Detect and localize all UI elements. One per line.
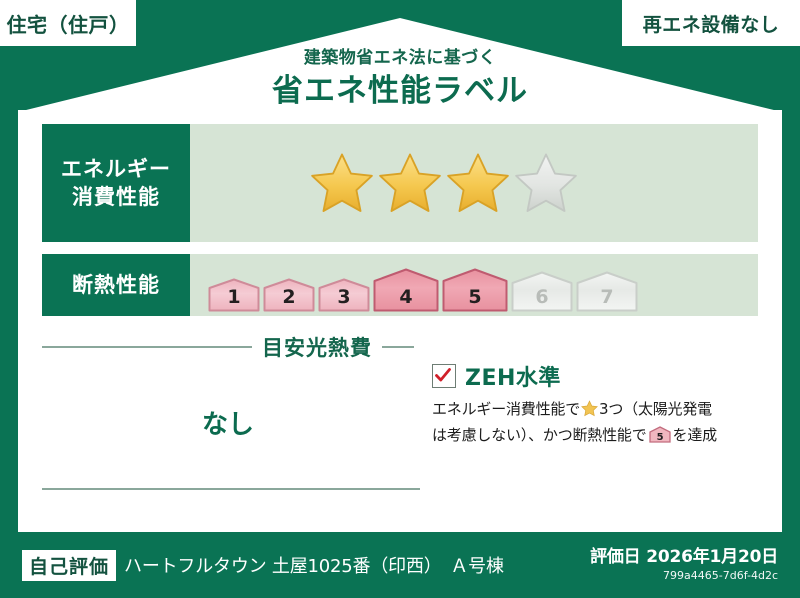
- utility-cost-title: 目安光熱費: [262, 332, 372, 362]
- project-name: ハートフルタウン 土屋1025番（印西） Ａ号棟: [124, 552, 504, 578]
- zeh-checkbox[interactable]: [432, 364, 456, 388]
- utility-cost-bottom-rule: [42, 488, 420, 490]
- zeh-desc-part2: 3つ（太陽光発電: [599, 400, 712, 418]
- insulation-level-number: 3: [318, 286, 370, 308]
- insulation-level-number: 4: [373, 286, 439, 308]
- zeh-block: ZEH水準 エネルギー消費性能で3つ（太陽光発電 は考慮しない）、かつ断熱性能で…: [414, 326, 758, 516]
- insulation-performance-label: 断熱性能: [42, 254, 190, 316]
- energy-performance-value: [190, 124, 758, 242]
- insulation-level-badge: 6: [511, 271, 573, 312]
- energy-performance-label: 住宅（住戸） 再エネ設備なし 建築物省エネ法に基づく 省エネ性能ラベル エネルギ…: [0, 0, 800, 598]
- building-type-label: 住宅（住戸）: [7, 9, 130, 38]
- page-title: 省エネ性能ラベル: [0, 72, 800, 111]
- subtitle: 建築物省エネ法に基づく: [0, 48, 800, 68]
- insulation-level-badge: 4: [373, 268, 439, 312]
- building-type-tag: 住宅（住戸）: [0, 0, 136, 46]
- energy-label-line1: エネルギー: [61, 155, 171, 183]
- star-icon-filled: [310, 151, 374, 215]
- star-icon-filled: [446, 151, 510, 215]
- zeh-desc-line2-part1: は考慮しない）、かつ断熱性能で: [432, 426, 647, 444]
- energy-performance-row: エネルギー 消費性能: [42, 124, 758, 242]
- utility-cost-heading: 目安光熱費: [42, 326, 414, 362]
- evaluation-date: 評価日 2026年1月20日: [590, 548, 778, 567]
- insulation-level-number: 6: [511, 286, 573, 308]
- insulation-label-text: 断熱性能: [72, 271, 160, 299]
- star-icon-empty: [514, 151, 578, 215]
- insulation-level-badge: 5: [442, 268, 508, 312]
- insulation-performance-row: 断熱性能 1234567: [42, 254, 758, 316]
- insulation-level-badge: 2: [263, 278, 315, 312]
- svg-text:5: 5: [656, 432, 663, 443]
- star-icon-filled: [378, 151, 442, 215]
- energy-label-line2: 消費性能: [72, 183, 160, 211]
- inline-insulation-badge: 5: [649, 426, 671, 450]
- renewable-energy-tag: 再エネ設備なし: [622, 0, 800, 46]
- insulation-performance-value: 1234567: [190, 254, 758, 316]
- insulation-level-number: 2: [263, 286, 315, 308]
- utility-cost-value: なし: [42, 404, 414, 441]
- insulation-level-number: 7: [576, 286, 638, 308]
- insulation-level-scale: 1234567: [208, 254, 638, 316]
- heading-rule-left: [42, 346, 252, 348]
- zeh-heading: ZEH水準: [432, 326, 758, 392]
- energy-performance-label: エネルギー 消費性能: [42, 124, 190, 242]
- zeh-desc-part1: エネルギー消費性能で: [432, 400, 580, 418]
- footer: 自己評価 ハートフルタウン 土屋1025番（印西） Ａ号棟 評価日 2026年1…: [0, 532, 800, 598]
- evaluation-id: 799a4465-7d6f-4d2c: [590, 570, 778, 582]
- zeh-title: ZEH水準: [465, 360, 561, 392]
- zeh-description: エネルギー消費性能で3つ（太陽光発電 は考慮しない）、かつ断熱性能で5を達成: [432, 398, 758, 451]
- self-evaluation-badge: 自己評価: [22, 550, 116, 581]
- heading-rule-right: [382, 346, 414, 348]
- insulation-level-number: 5: [442, 286, 508, 308]
- utility-cost-block: 目安光熱費 なし: [42, 326, 414, 516]
- inline-star-icon: [581, 403, 598, 421]
- insulation-level-badge: 1: [208, 278, 260, 312]
- star-rating: [310, 151, 578, 215]
- insulation-level-badge: 3: [318, 278, 370, 312]
- lower-section: 目安光熱費 なし ZEH水準 エネルギー消費性能で3つ（太陽光発電 は考慮しない…: [42, 326, 758, 516]
- header-titles: 建築物省エネ法に基づく 省エネ性能ラベル: [0, 48, 800, 111]
- insulation-level-badge: 7: [576, 271, 638, 312]
- renewable-energy-label: 再エネ設備なし: [643, 10, 780, 37]
- insulation-level-number: 1: [208, 286, 260, 308]
- zeh-desc-part3: を達成: [673, 426, 717, 444]
- footer-right: 評価日 2026年1月20日 799a4465-7d6f-4d2c: [590, 548, 778, 582]
